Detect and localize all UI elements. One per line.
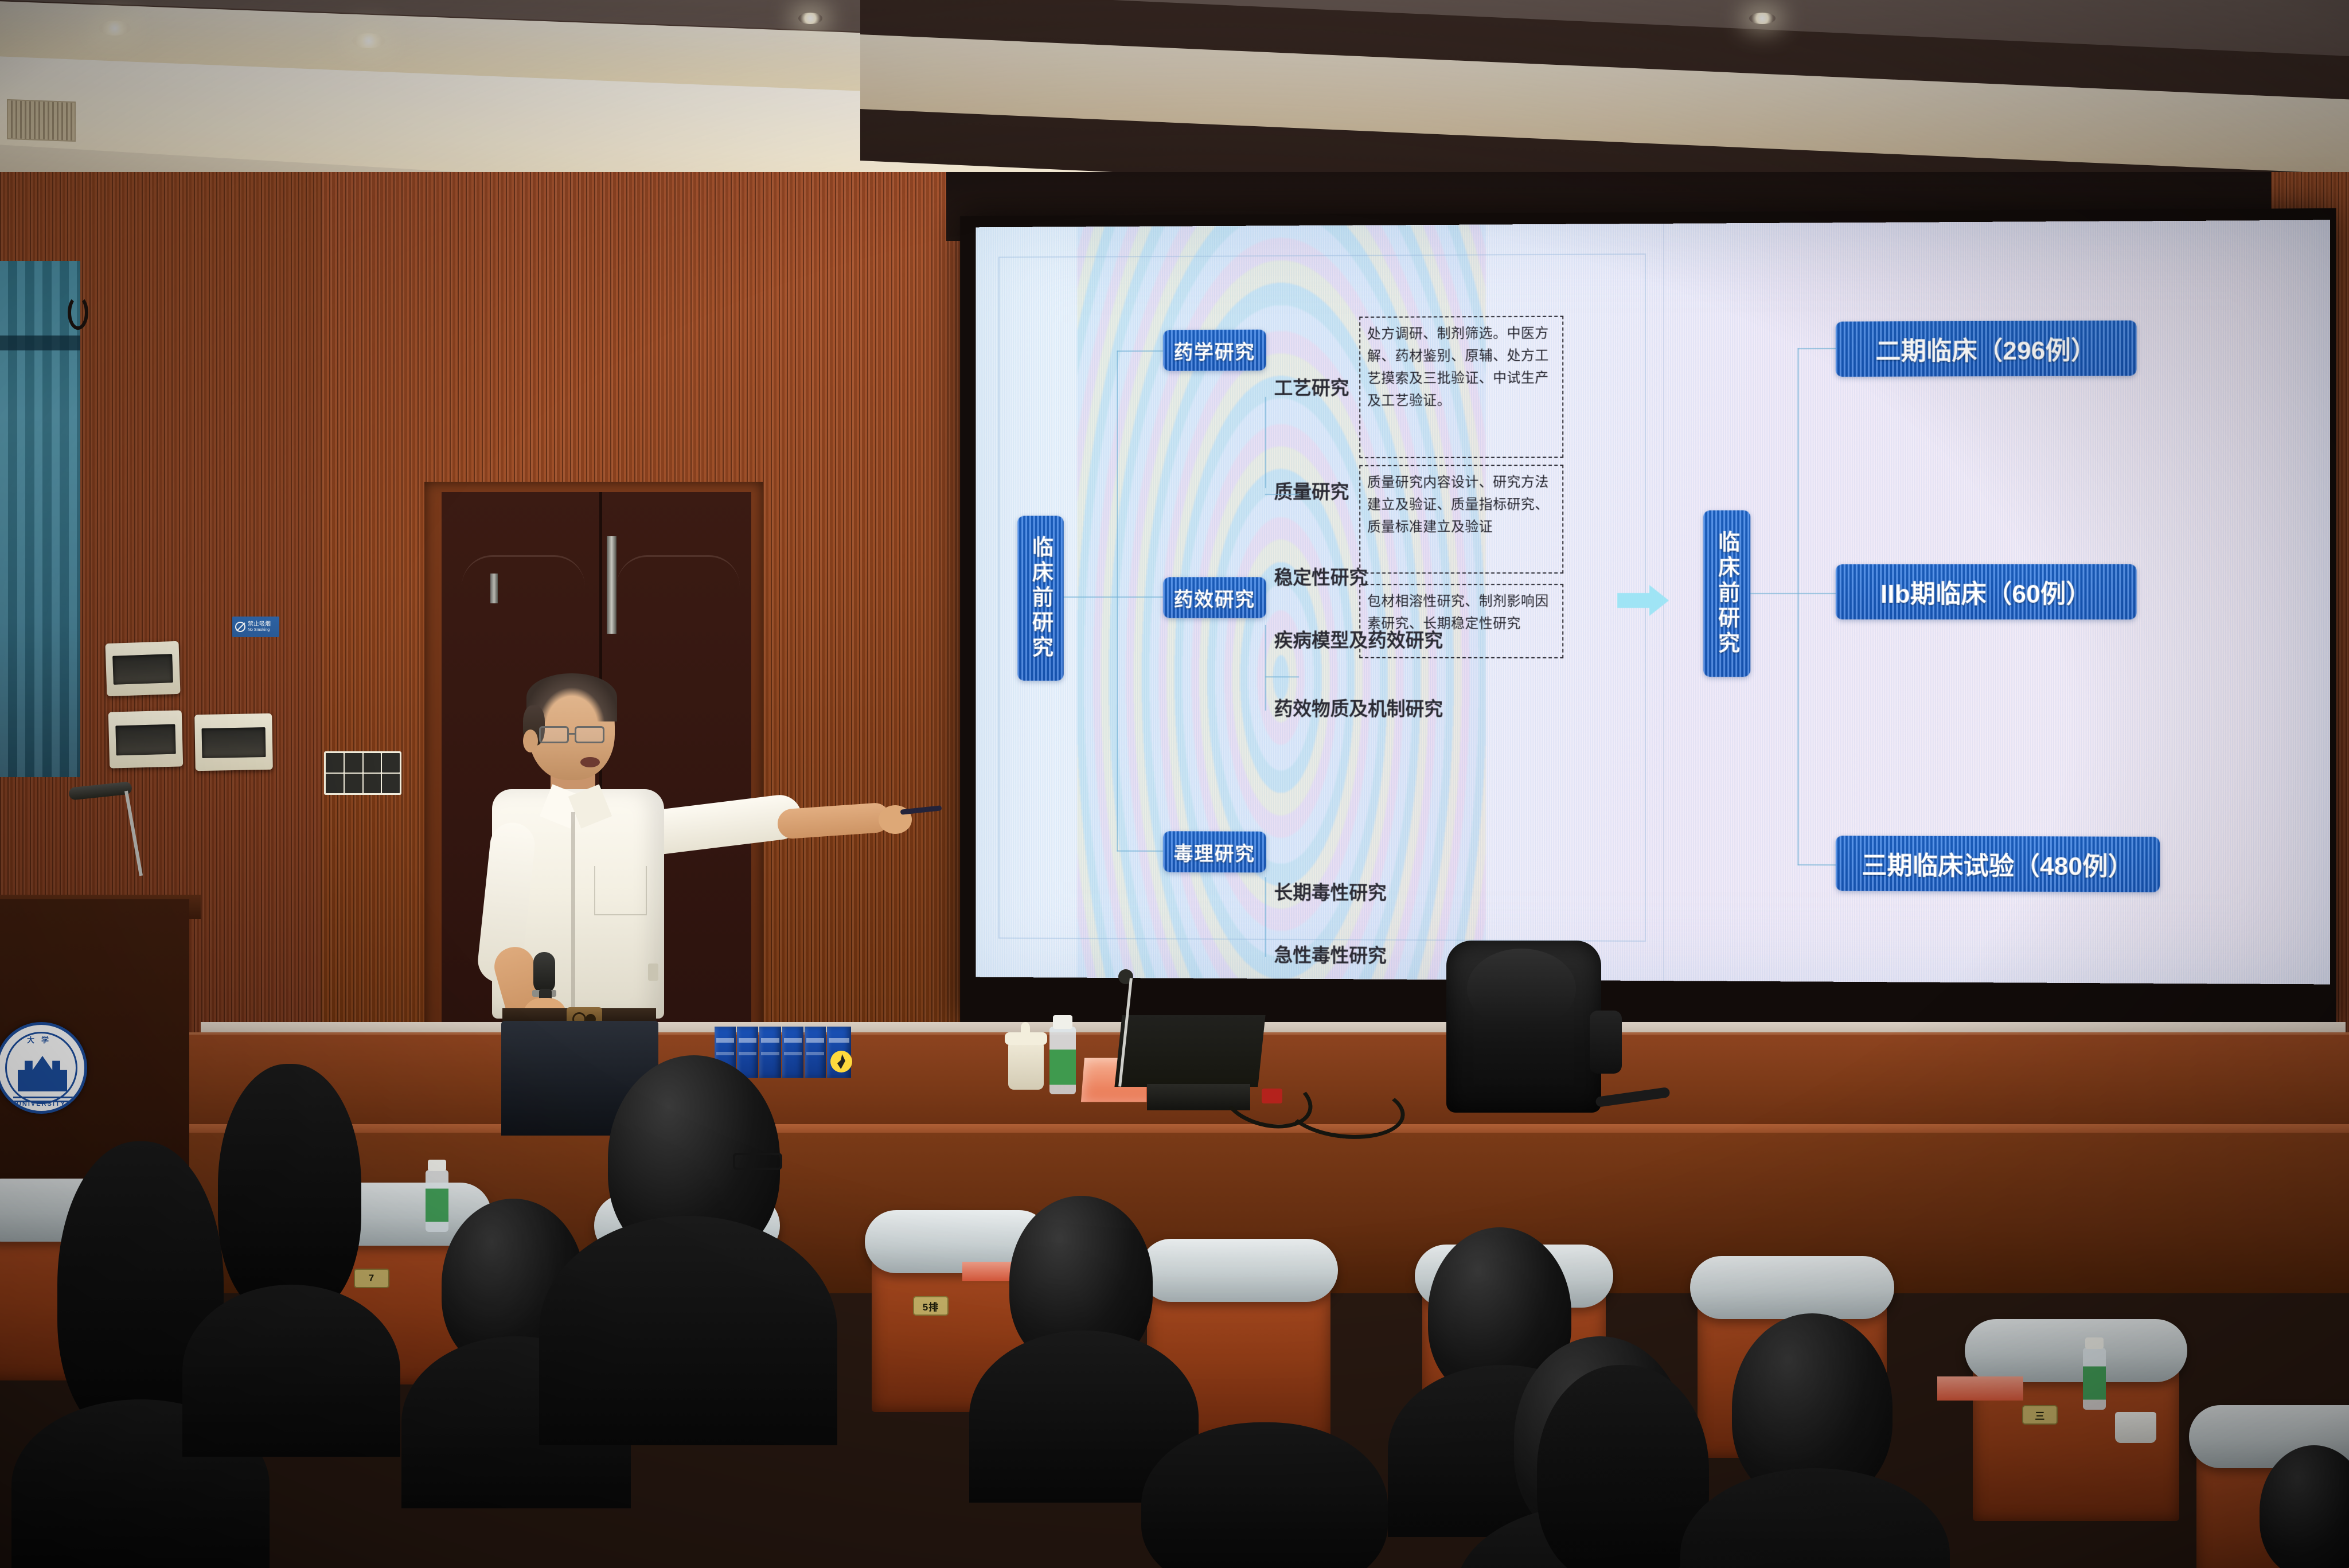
ceiling-downlight (798, 13, 822, 24)
bottle-cap (1053, 1015, 1072, 1029)
glasses-lens-right (575, 726, 604, 743)
node-toxicology-research: 毒理研究 (1163, 831, 1266, 872)
chair-headrest (1467, 949, 1576, 1029)
panel-window (112, 654, 174, 684)
emblem-text-cn: 大学 (0, 1034, 84, 1045)
light-switch[interactable] (345, 774, 362, 793)
bottle-cap (428, 1160, 446, 1171)
light-switch[interactable] (345, 753, 362, 773)
shirt-placket (571, 812, 575, 1012)
no-smoking-label-en: No Smoking (248, 628, 271, 632)
auditorium-seat[interactable]: 三 (1973, 1319, 2179, 1491)
door-panel-molding (462, 555, 585, 618)
curtain-band (0, 336, 80, 350)
product-box (737, 1027, 758, 1078)
electrical-panel[interactable] (105, 641, 180, 696)
node-phase3-clinical: 三期临床试验（480例） (1836, 836, 2160, 892)
leaf-acute-toxicity: 急性毒性研究 (1274, 940, 1387, 968)
red-booklet (1937, 1376, 2023, 1401)
seat-number-plate: 7 (354, 1269, 389, 1288)
ceiling-downlight (1749, 13, 1776, 24)
connector (1265, 676, 1299, 677)
connector (1064, 596, 1118, 598)
emblem-text-en: UNIVERSITY (0, 1101, 84, 1107)
glasses-lens-left (539, 726, 569, 743)
cup-lid (1005, 1032, 1047, 1045)
connector (1750, 593, 1798, 594)
leaf-quality-research: 质量研究 (1274, 477, 1349, 504)
audience-glasses (733, 1153, 782, 1170)
air-vent-grille (7, 99, 76, 142)
no-smoking-sign: 禁止吸烟 No Smoking (232, 617, 279, 637)
seat-number-plate: 三 (2022, 1405, 2058, 1425)
door-bolt[interactable] (607, 536, 616, 634)
light-switch[interactable] (364, 774, 381, 793)
connector (1797, 864, 1836, 865)
emblem-gate-icon (18, 1056, 67, 1091)
audience-shoulders (182, 1285, 400, 1457)
electrical-panel[interactable] (108, 710, 184, 768)
connector (1797, 348, 1836, 349)
audience-shoulders (1680, 1468, 1950, 1568)
ceiling-downlight (99, 21, 131, 36)
light-switch[interactable] (382, 753, 400, 773)
detail-box-quality: 质量研究内容设计、研究方法建立及验证、质量指标研究、质量标准建立及验证 (1359, 465, 1563, 574)
leaf-stability-research: 稳定性研究 (1274, 562, 1368, 590)
connector (1117, 851, 1165, 852)
connector (1797, 348, 1798, 865)
lecture-hall-photo: 禁止吸烟 No Smoking 临床前研究 药学研究 工艺研究 质量研究 稳定性… (0, 0, 2349, 1568)
executive-chair (1434, 925, 1617, 1114)
door-hinge (490, 574, 498, 603)
curtain-hook (68, 295, 88, 330)
node-pharmaceutical-research: 药学研究 (1163, 330, 1266, 371)
seat-headrest (1140, 1239, 1338, 1302)
connector (1117, 596, 1165, 598)
node-phase2-clinical: 二期临床（296例） (1836, 321, 2137, 377)
node-phase2b-clinical: IIb期临床（60例） (1836, 564, 2137, 620)
audience-shoulders (539, 1216, 837, 1445)
light-switch[interactable] (326, 774, 344, 793)
bottle-cap (2085, 1337, 2104, 1349)
product-seal-icon (830, 1051, 852, 1072)
leaf-process-research: 工艺研究 (1274, 373, 1349, 400)
electrical-panel[interactable] (194, 713, 273, 771)
ceiling-downlight (352, 33, 385, 48)
leaf-long-term-toxicity: 长期毒性研究 (1274, 877, 1387, 905)
audience-head (1141, 1422, 1388, 1568)
projection-screen: 临床前研究 药学研究 工艺研究 质量研究 稳定性研究 处方调研、制剂筛选。中医方… (976, 220, 2331, 985)
arrow-head (1649, 585, 1669, 616)
connector (1265, 625, 1266, 711)
node-pharmacodynamics-research: 药效研究 (1163, 577, 1266, 618)
presenter-ear (523, 730, 538, 752)
connector (1265, 397, 1266, 488)
water-bottle (1049, 1027, 1076, 1094)
cable-tag (1262, 1089, 1282, 1103)
door-panel-molding (616, 555, 740, 618)
leaf-disease-model-research: 疾病模型及药效研究 (1274, 625, 1443, 653)
chair-armrest (1590, 1011, 1622, 1074)
light-switch-panel[interactable] (324, 751, 401, 795)
handheld-microphone-head (533, 952, 555, 993)
seat-number-plate: 5排 (913, 1296, 949, 1316)
presenter (459, 677, 723, 1078)
light-switch[interactable] (326, 753, 344, 773)
paper-cup (2115, 1412, 2156, 1443)
product-box (759, 1027, 781, 1078)
audience-water-bottle (426, 1170, 448, 1232)
ceramic-cup (1008, 1043, 1044, 1090)
audience-head (218, 1064, 361, 1316)
no-smoking-icon (235, 622, 245, 632)
no-smoking-label-cn: 禁止吸烟 (248, 622, 271, 628)
connector (1797, 593, 1836, 594)
shirt-pocket (594, 866, 647, 915)
node-preclinical-root: 临床前研究 (1017, 516, 1064, 681)
light-switch[interactable] (382, 774, 400, 793)
emblem-waves (13, 1097, 73, 1098)
presenter-glasses (539, 726, 611, 744)
node-clinical-root: 临床前研究 (1703, 510, 1750, 677)
leaf-mechanism-research: 药效物质及机制研究 (1274, 693, 1443, 721)
light-switch[interactable] (364, 753, 381, 773)
connector (1265, 877, 1266, 957)
arrow-shaft (1617, 593, 1650, 608)
detail-box-process: 处方调研、制剂筛选。中医方解、药材鉴别、原辅、处方工艺摸索及三批验证、中试生产及… (1359, 316, 1563, 458)
seat-headrest (1965, 1319, 2188, 1382)
connector (1265, 494, 1299, 495)
panel-window (115, 724, 176, 756)
product-box-front (827, 1027, 851, 1078)
connector (1117, 350, 1165, 352)
presenter-mouth (580, 757, 600, 767)
panel-window (202, 727, 266, 759)
product-box (805, 1027, 826, 1078)
product-box (782, 1027, 803, 1078)
audience-water-bottle (2083, 1348, 2106, 1410)
seat-headrest (1690, 1256, 1894, 1319)
cup-knob (1021, 1022, 1030, 1033)
pen-clip (648, 964, 658, 981)
connector (1117, 350, 1118, 851)
